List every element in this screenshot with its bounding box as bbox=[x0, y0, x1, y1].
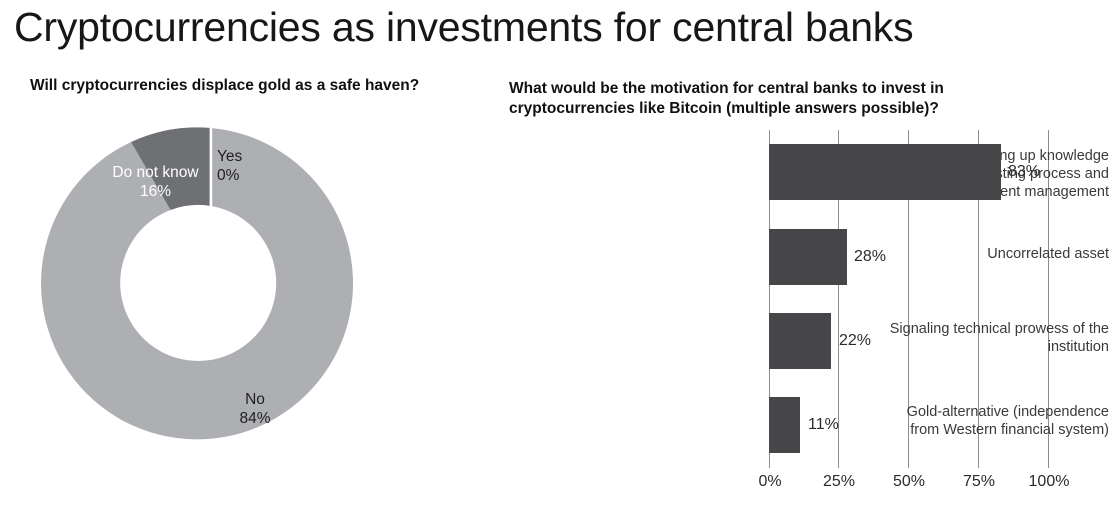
bar-category-label-2: Uncorrelated asset bbox=[857, 245, 1109, 263]
bar-value-label-3: 22% bbox=[839, 332, 871, 350]
donut-chart-subtitle: Will cryptocurrencies displace gold as a… bbox=[30, 76, 500, 96]
bar-category-label-2-line-1: Uncorrelated asset bbox=[987, 246, 1109, 262]
bar-category-label-4: Gold-alternative (independence from West… bbox=[857, 403, 1109, 439]
donut-label-do-not-know-value: 16% bbox=[93, 182, 218, 201]
x-tick-label-75: 75% bbox=[949, 473, 1009, 491]
donut-label-yes-value: 0% bbox=[217, 166, 242, 185]
x-tick-label-50: 50% bbox=[879, 473, 939, 491]
donut-label-yes: Yes 0% bbox=[217, 147, 242, 185]
bar-value-label-1: 83% bbox=[1008, 163, 1040, 181]
donut-label-do-not-know-name: Do not know bbox=[112, 164, 198, 181]
bar-category-label-3-line-1: Signaling technical prowess of the bbox=[890, 321, 1109, 337]
bar-rect-3[interactable] bbox=[769, 313, 831, 369]
donut-label-no: No 84% bbox=[225, 390, 285, 428]
donut-label-no-name: No bbox=[245, 391, 265, 408]
bar-category-label-4-line-1: Gold-alternative (independence bbox=[907, 404, 1109, 420]
bar-chart: Learning / building up knowledge about c… bbox=[509, 125, 1109, 500]
bar-category-label-4-line-2: from Western financial system) bbox=[910, 422, 1109, 438]
bar-category-label-3-line-2: institution bbox=[1048, 339, 1109, 355]
bar-category-label-3: Signaling technical prowess of the insti… bbox=[857, 320, 1109, 356]
bar-chart-subtitle-line-1: What would be the motivation for central… bbox=[509, 80, 944, 97]
bar-chart-subtitle-line-2: cryptocurrencies like Bitcoin (multiple … bbox=[509, 100, 939, 117]
x-tick-label-25: 25% bbox=[809, 473, 869, 491]
donut-chart: Yes 0% Do not know 16% No 84% bbox=[40, 120, 390, 460]
bar-rect-2[interactable] bbox=[769, 229, 847, 285]
page-title: Cryptocurrencies as investments for cent… bbox=[14, 4, 913, 51]
donut-label-yes-name: Yes bbox=[217, 148, 242, 165]
bar-value-label-4: 11% bbox=[808, 416, 839, 434]
donut-label-no-value: 84% bbox=[225, 409, 285, 428]
donut-label-do-not-know: Do not know 16% bbox=[93, 163, 218, 201]
x-tick-label-100: 100% bbox=[1019, 473, 1079, 491]
bar-chart-subtitle: What would be the motivation for central… bbox=[509, 79, 1039, 119]
bar-rect-1[interactable] bbox=[769, 144, 1001, 200]
bar-rect-4[interactable] bbox=[769, 397, 800, 453]
x-tick-label-0: 0% bbox=[740, 473, 800, 491]
bar-value-label-2: 28% bbox=[854, 248, 886, 266]
